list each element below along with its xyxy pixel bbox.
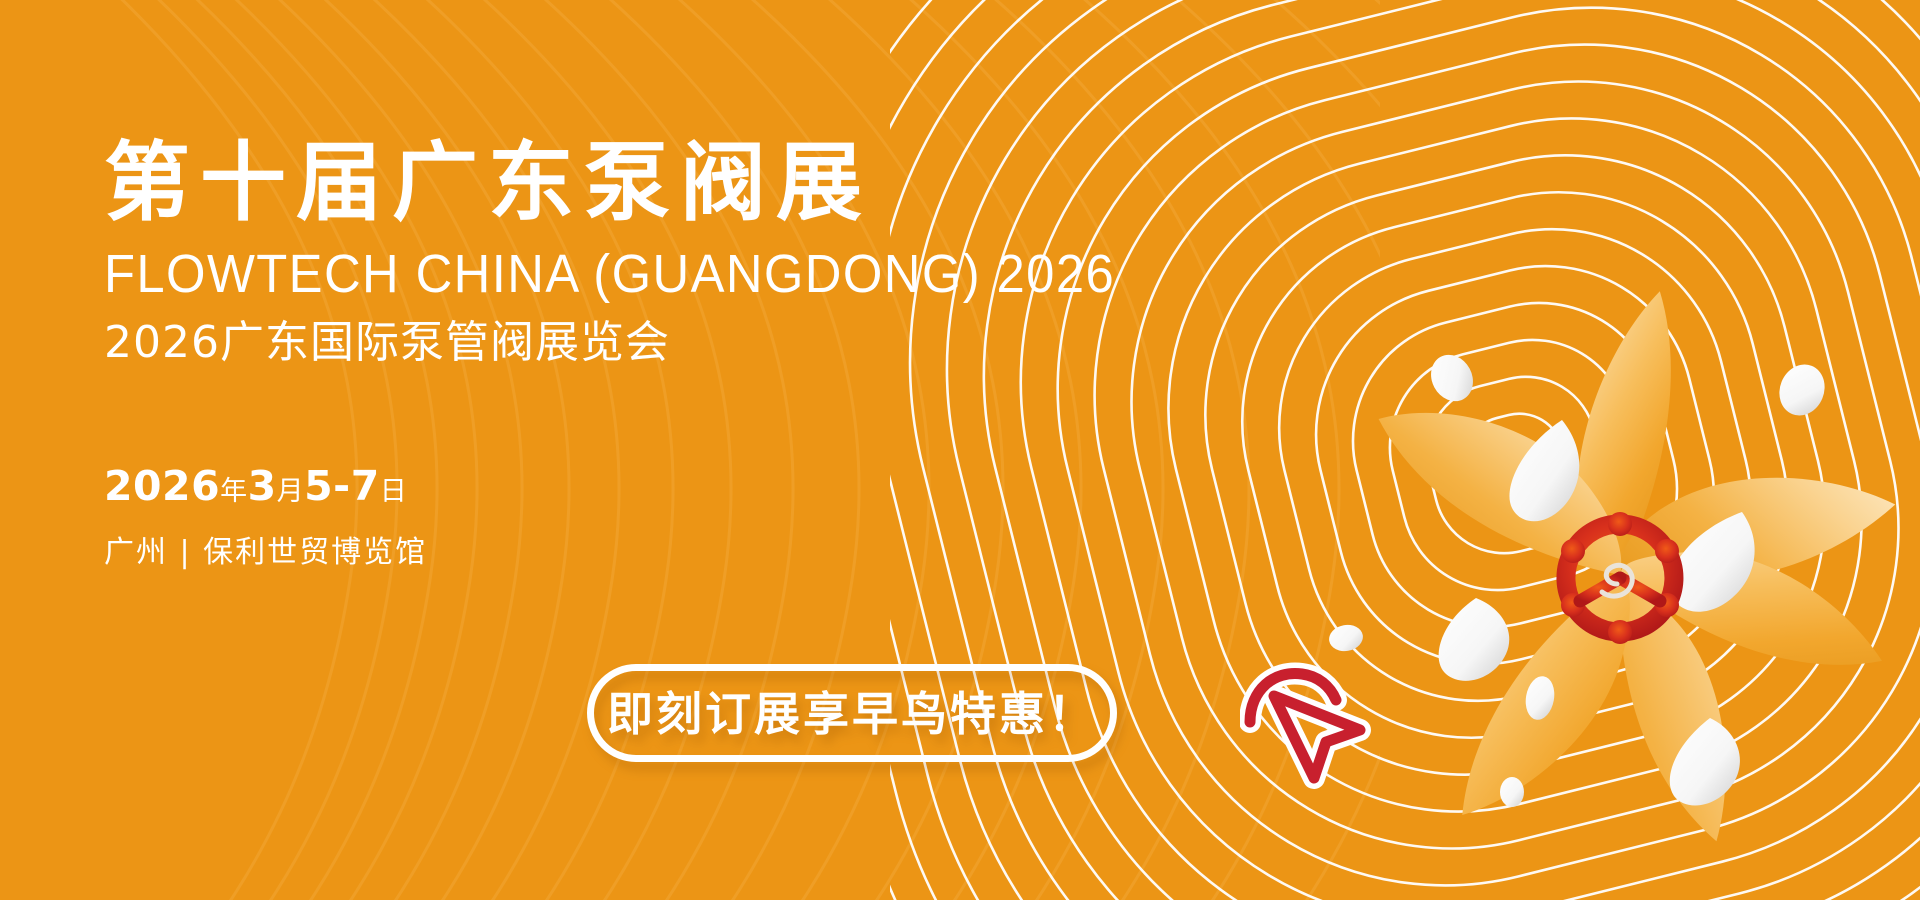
date-year-unit: 年 <box>220 476 248 507</box>
event-meta: 2026年3月5-7日 广州 | 保利世贸博览馆 <box>104 464 1104 571</box>
page-subtitle-cn: 2026广东国际泵管阀展览会 <box>104 317 1104 370</box>
event-venue: 广州 | 保利世贸博览馆 <box>104 527 1104 571</box>
date-year-value: 2026 <box>104 462 220 510</box>
date-month-value: 3 <box>248 462 277 510</box>
early-bird-cta-button[interactable]: 即刻订展享早鸟特惠！ <box>587 664 1117 762</box>
date-day-value: 5-7 <box>304 462 380 510</box>
event-banner: 第十届广东泵阀展 FLOWTECH CHINA (GUANGDONG) 2026… <box>0 0 1920 900</box>
event-date: 2026年3月5-7日 <box>104 464 1104 509</box>
page-title-en: FLOWTECH CHINA (GUANGDONG) 2026 <box>104 243 1044 307</box>
date-day-unit: 日 <box>380 476 408 507</box>
early-bird-cta-label: 即刻订展享早鸟特惠！ <box>607 678 1097 744</box>
date-month-unit: 月 <box>277 476 305 507</box>
pinwheel-flower-graphic <box>1290 250 1920 870</box>
banner-content: 第十届广东泵阀展 FLOWTECH CHINA (GUANGDONG) 2026… <box>104 138 1104 571</box>
page-title-cn: 第十届广东泵阀展 <box>104 138 1104 229</box>
